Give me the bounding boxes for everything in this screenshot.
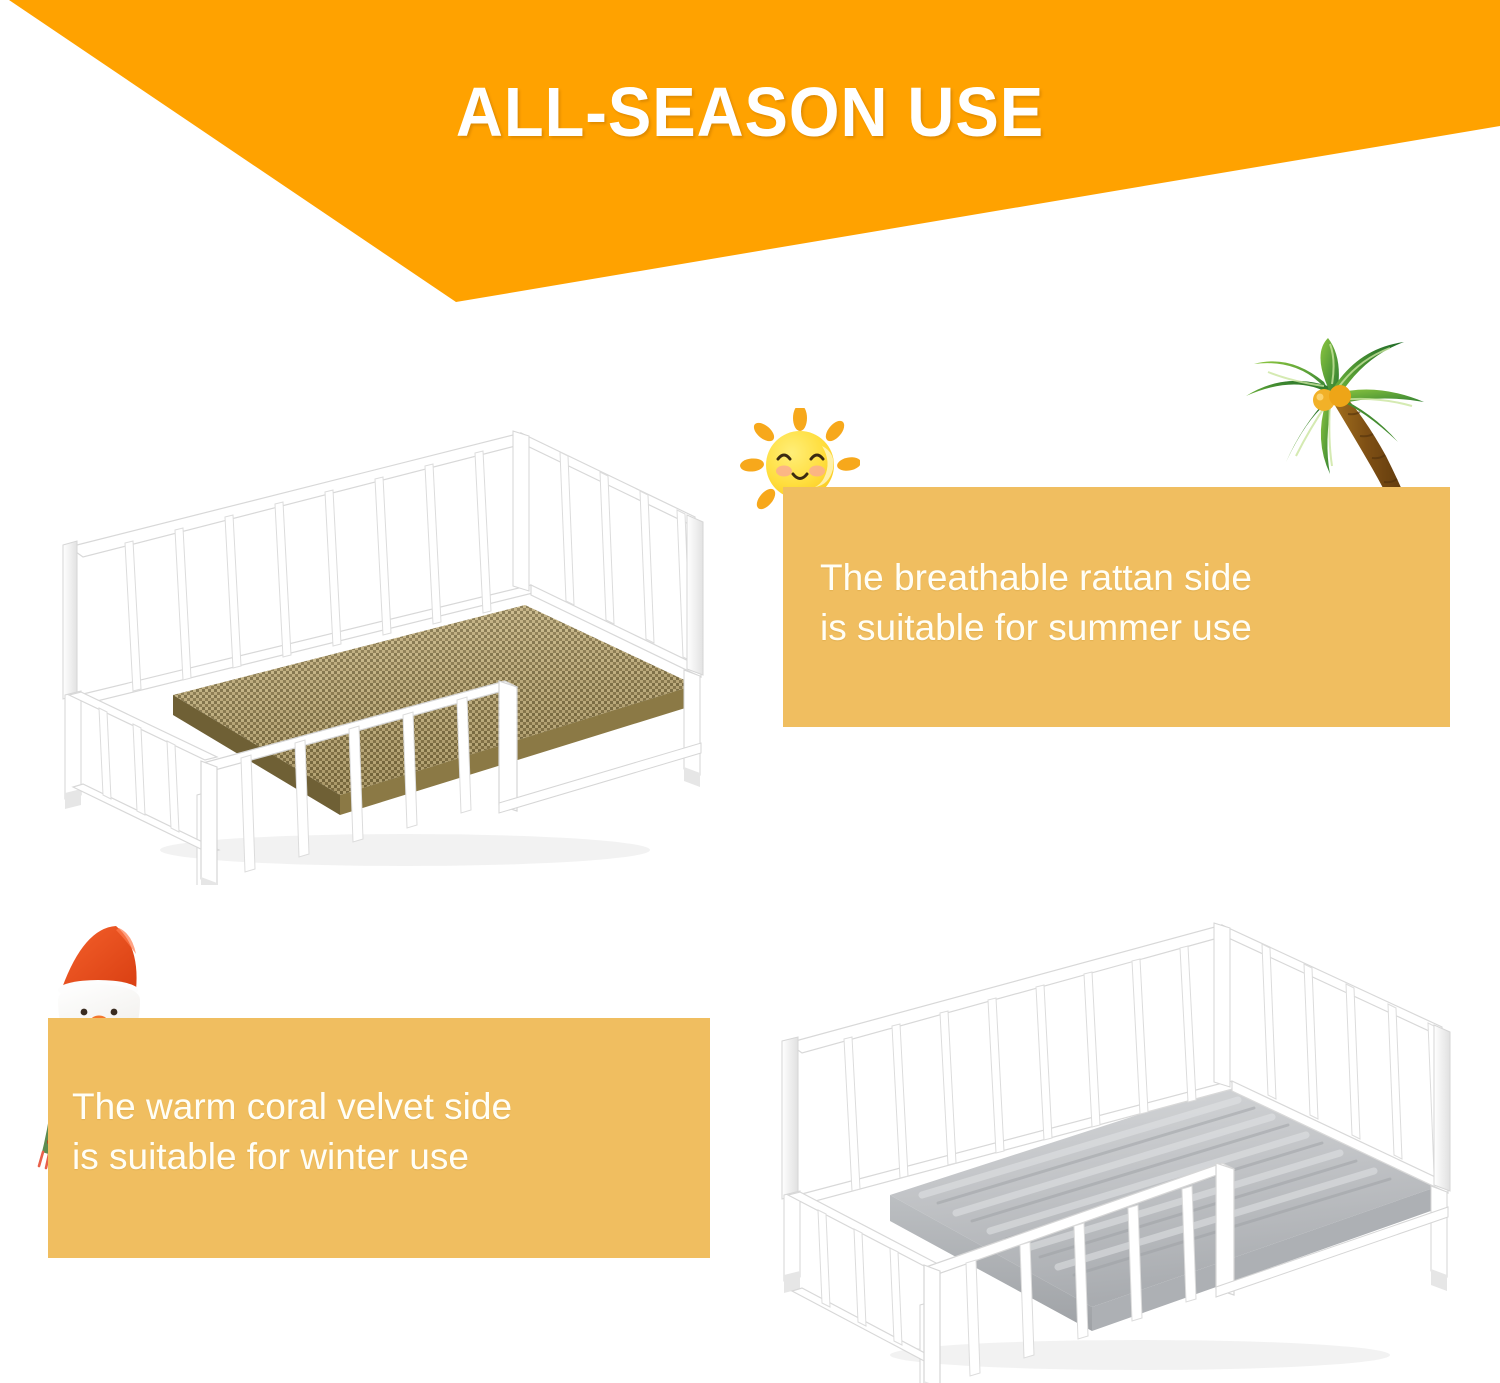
summer-caption-text: The breathable rattan side is suitable f… bbox=[820, 553, 1252, 653]
winter-caption-line-2: is suitable for winter use bbox=[72, 1132, 512, 1182]
summer-caption-line-1: The breathable rattan side bbox=[820, 553, 1252, 603]
winter-caption-text: The warm coral velvet side is suitable f… bbox=[72, 1082, 512, 1182]
infographic-page: ALL-SEASON USE bbox=[0, 0, 1500, 1383]
header-banner bbox=[0, 0, 1500, 310]
product-image-velvet-bed bbox=[770, 895, 1485, 1383]
product-image-rattan-bed bbox=[55, 395, 755, 885]
winter-caption-line-1: The warm coral velvet side bbox=[72, 1082, 512, 1132]
summer-caption-line-2: is suitable for summer use bbox=[820, 603, 1252, 653]
